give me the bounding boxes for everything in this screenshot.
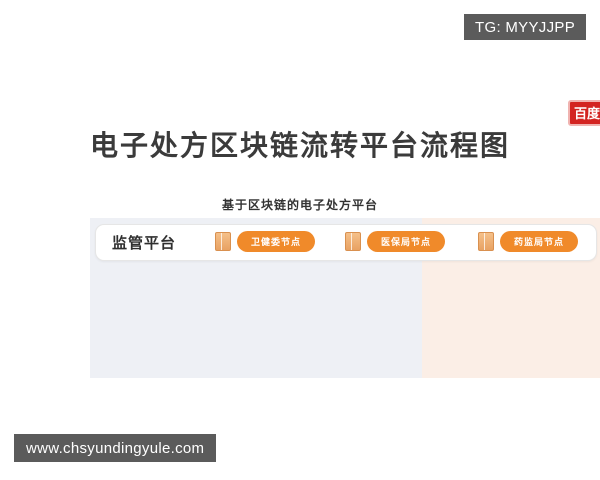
regulator-node-1[interactable]: 医保局节点 [345, 231, 445, 252]
regulator-node-label: 医保局节点 [367, 231, 445, 252]
server-node-icon [478, 232, 494, 251]
regulator-node-label: 卫健委节点 [237, 231, 315, 252]
page-title: 电子处方区块链流转平台流程图 [0, 124, 600, 164]
server-node-icon [345, 232, 361, 251]
regulator-node-2[interactable]: 药监局节点 [478, 231, 578, 252]
server-node-icon [215, 232, 231, 251]
diagram-subtitle: 基于区块链的电子处方平台 [0, 196, 600, 213]
telegram-watermark: TG: MYYJJPP [464, 14, 586, 40]
regulator-node-label: 药监局节点 [500, 231, 578, 252]
supervision-platform-label: 监管平台 [112, 232, 176, 253]
regulator-node-0[interactable]: 卫健委节点 [215, 231, 315, 252]
flowchart-diagram: 基于区块链的电子处方平台 监管平台 卫健委节点 医保局节点 药监局节点 处方审查… [0, 180, 600, 385]
baidu-badge: 百度 [568, 100, 600, 126]
website-watermark: www.chsyundingyule.com [14, 434, 216, 462]
